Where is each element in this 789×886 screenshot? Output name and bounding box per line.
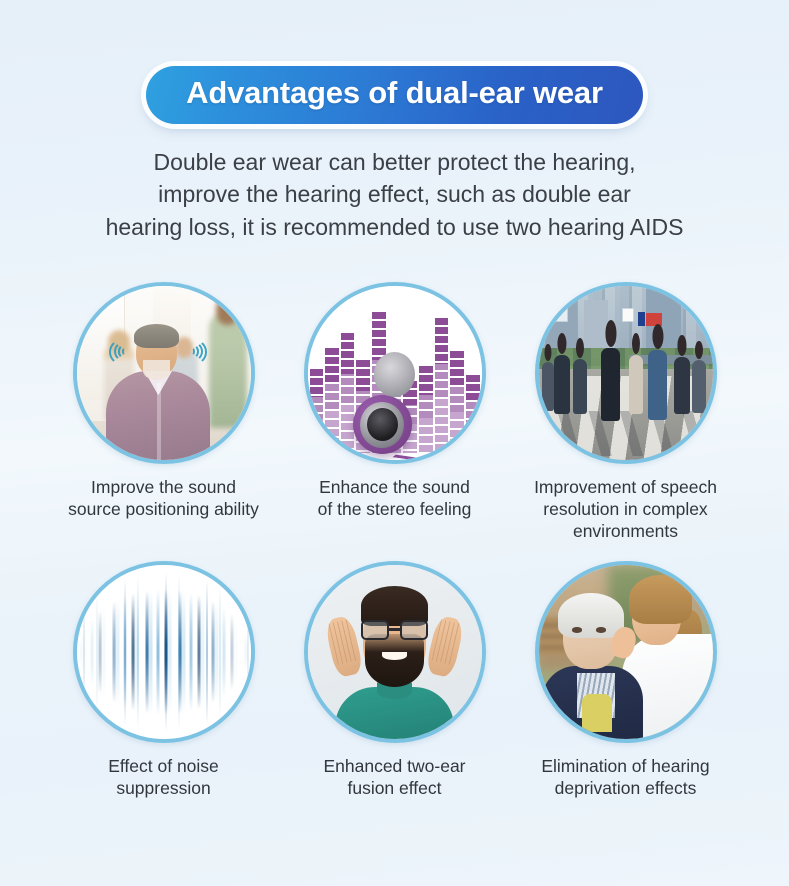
blue-sound-waveform-graphic xyxy=(77,565,251,739)
feature-caption: Enhanced two-ear fusion effect xyxy=(323,755,465,800)
feature-image-circle xyxy=(304,561,486,743)
feature-item-noise-suppression: Effect of noise suppression xyxy=(48,561,279,800)
caption-line: deprivation effects xyxy=(541,777,709,799)
feature-grid: Improve the sound source positioning abi… xyxy=(0,282,789,800)
feature-image-circle xyxy=(304,282,486,464)
subtitle-line-3: hearing loss, it is recommended to use t… xyxy=(22,211,767,244)
caregiver-whispering-to-elderly-woman-photo xyxy=(539,565,713,739)
speaker-icon xyxy=(353,395,412,454)
feature-image-circle xyxy=(535,282,717,464)
feature-image-circle xyxy=(73,561,255,743)
eyeglasses-icon xyxy=(361,620,427,639)
city-crosswalk-crowd-photo xyxy=(539,286,713,460)
title-banner: Advantages of dual-ear wear xyxy=(146,66,643,124)
caption-line: Effect of noise xyxy=(108,755,219,777)
feature-caption: Effect of noise suppression xyxy=(108,755,219,800)
caption-line: source positioning ability xyxy=(68,498,259,520)
sound-wave-left-icon xyxy=(111,338,139,366)
feature-item-stereo-feeling: Enhance the sound of the stereo feeling xyxy=(279,282,510,543)
feature-item-two-ear-fusion: Enhanced two-ear fusion effect xyxy=(279,561,510,800)
caption-line: Improvement of speech xyxy=(534,476,717,498)
feature-image-circle xyxy=(73,282,255,464)
caption-line: Improve the sound xyxy=(68,476,259,498)
caption-line: of the stereo feeling xyxy=(318,498,472,520)
sound-wave-right-icon xyxy=(177,338,205,366)
feature-caption: Improve the sound source positioning abi… xyxy=(68,476,259,521)
smiling-man-with-sound-waves-photo xyxy=(77,286,251,460)
subtitle-line-2: improve the hearing effect, such as doub… xyxy=(22,178,767,211)
caption-line: Enhanced two-ear xyxy=(323,755,465,777)
feature-caption: Elimination of hearing deprivation effec… xyxy=(541,755,709,800)
feature-item-sound-source-positioning: Improve the sound source positioning abi… xyxy=(48,282,279,543)
feature-item-speech-resolution: Improvement of speech resolution in comp… xyxy=(510,282,741,543)
feature-caption: Improvement of speech resolution in comp… xyxy=(534,476,717,543)
subtitle-line-1: Double ear wear can better protect the h… xyxy=(22,146,767,179)
feature-caption: Enhance the sound of the stereo feeling xyxy=(318,476,472,521)
caption-line: fusion effect xyxy=(323,777,465,799)
header-banner-area: Advantages of dual-ear wear xyxy=(0,0,789,124)
subtitle-paragraph: Double ear wear can better protect the h… xyxy=(0,146,789,244)
feature-item-hearing-deprivation: Elimination of hearing deprivation effec… xyxy=(510,561,741,800)
man-cupping-both-ears-photo xyxy=(308,565,482,739)
caption-line: environments xyxy=(534,520,717,542)
purple-equalizer-speaker-graphic xyxy=(308,286,482,460)
caption-line: Enhance the sound xyxy=(318,476,472,498)
caption-line: suppression xyxy=(108,777,219,799)
page-title: Advantages of dual-ear wear xyxy=(186,75,603,111)
caption-line: resolution in complex xyxy=(534,498,717,520)
feature-image-circle xyxy=(535,561,717,743)
caption-line: Elimination of hearing xyxy=(541,755,709,777)
